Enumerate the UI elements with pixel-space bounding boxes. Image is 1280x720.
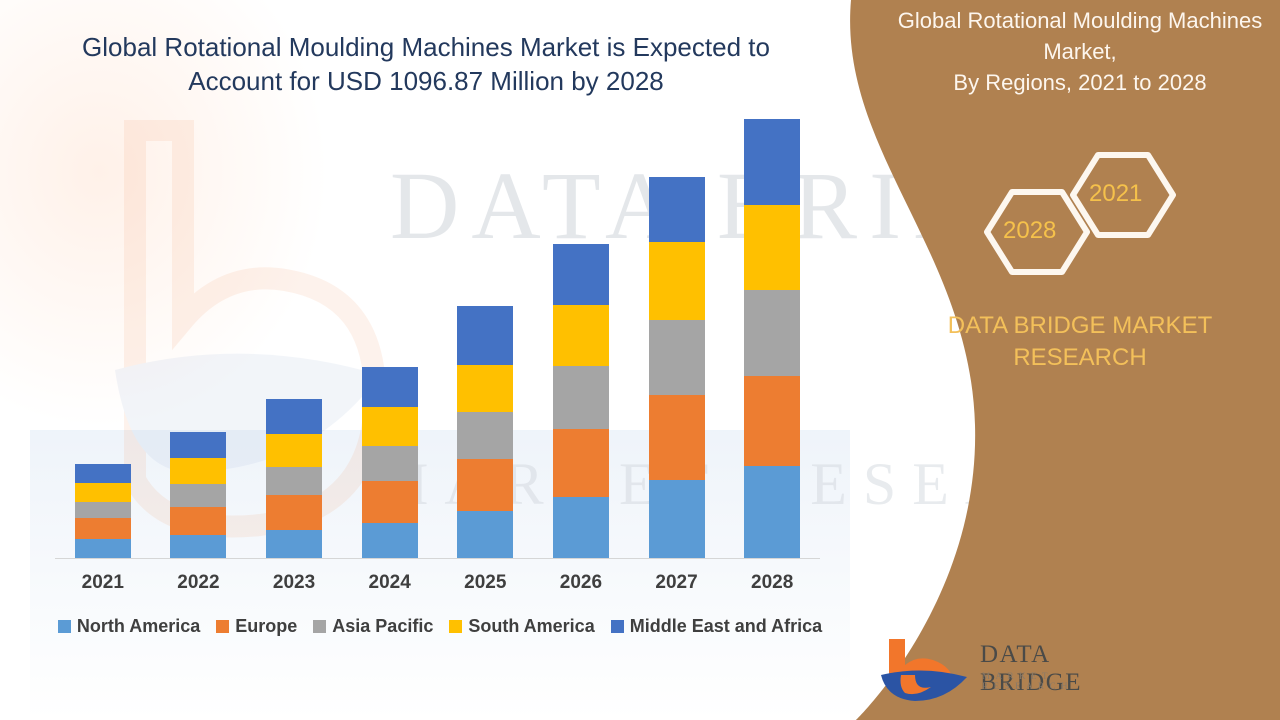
hexagon-pair-icon bbox=[970, 150, 1190, 280]
bar-segment bbox=[744, 466, 800, 558]
infographic-slide: DATA BRIDGE MARKET RESEARCH Global Rotat… bbox=[0, 0, 1280, 720]
bridge-logo-icon bbox=[875, 635, 975, 705]
x-axis-label: 2025 bbox=[440, 572, 530, 594]
x-axis-label: 2023 bbox=[249, 572, 339, 594]
bar-segment bbox=[649, 320, 705, 395]
legend-item[interactable]: Middle East and Africa bbox=[611, 616, 822, 637]
x-axis-label: 2022 bbox=[153, 572, 243, 594]
brand-panel-title: Global Rotational Moulding Machines Mark… bbox=[870, 5, 1280, 99]
bar-segment bbox=[362, 407, 418, 446]
bar-segment bbox=[553, 244, 609, 305]
bar-segment bbox=[75, 483, 131, 502]
bar-segment bbox=[649, 395, 705, 480]
legend-swatch-icon bbox=[216, 620, 229, 633]
bar-segment bbox=[170, 432, 226, 458]
logo-tagline: MARKET RESEARCH bbox=[982, 671, 1135, 691]
bar-segment bbox=[362, 481, 418, 523]
bar-2026 bbox=[553, 244, 609, 558]
bar-2023 bbox=[266, 399, 322, 558]
x-axis-line bbox=[55, 558, 820, 559]
bar-segment bbox=[75, 464, 131, 483]
legend-item[interactable]: Asia Pacific bbox=[313, 616, 433, 637]
bar-2025 bbox=[457, 306, 513, 558]
bar-segment bbox=[553, 305, 609, 366]
bar-segment bbox=[553, 429, 609, 497]
bar-segment bbox=[744, 376, 800, 466]
company-name: DATA BRIDGE MARKET RESEARCH bbox=[880, 310, 1280, 374]
x-axis-label: 2028 bbox=[727, 572, 817, 594]
legend-label: South America bbox=[468, 616, 594, 637]
bar-segment bbox=[362, 523, 418, 558]
bar-segment bbox=[170, 535, 226, 558]
bar-segment bbox=[744, 119, 800, 205]
legend-item[interactable]: South America bbox=[449, 616, 594, 637]
legend-swatch-icon bbox=[611, 620, 624, 633]
bar-segment bbox=[457, 365, 513, 412]
bar-2024 bbox=[362, 367, 418, 558]
legend-label: Asia Pacific bbox=[332, 616, 433, 637]
legend-item[interactable]: North America bbox=[58, 616, 200, 637]
bar-segment bbox=[170, 458, 226, 484]
bar-segment bbox=[553, 366, 609, 429]
page-title: Global Rotational Moulding Machines Mark… bbox=[62, 30, 790, 99]
x-axis-label: 2021 bbox=[58, 572, 148, 594]
bar-segment bbox=[266, 495, 322, 530]
hex-label-end: 2028 bbox=[1003, 217, 1056, 245]
chart-panel: DATA BRIDGE MARKET RESEARCH Global Rotat… bbox=[0, 0, 900, 720]
bar-segment bbox=[266, 467, 322, 495]
brand-panel: Global Rotational Moulding Machines Mark… bbox=[900, 0, 1280, 720]
bar-segment bbox=[362, 446, 418, 481]
x-axis-label: 2026 bbox=[536, 572, 626, 594]
bar-segment bbox=[457, 459, 513, 511]
bar-segment bbox=[457, 306, 513, 365]
bar-segment bbox=[649, 242, 705, 320]
bar-segment bbox=[457, 412, 513, 459]
legend-label: North America bbox=[77, 616, 200, 637]
bar-segment bbox=[649, 480, 705, 558]
bar-segment bbox=[266, 434, 322, 467]
bar-2021 bbox=[75, 464, 131, 558]
legend-label: Europe bbox=[235, 616, 297, 637]
legend-swatch-icon bbox=[449, 620, 462, 633]
legend-label: Middle East and Africa bbox=[630, 616, 822, 637]
bar-segment bbox=[75, 502, 131, 518]
legend-swatch-icon bbox=[58, 620, 71, 633]
bar-segment bbox=[553, 497, 609, 558]
bar-chart-plot bbox=[55, 118, 820, 558]
bar-2027 bbox=[649, 177, 705, 558]
bar-segment bbox=[744, 290, 800, 376]
chart-legend: North AmericaEuropeAsia PacificSouth Ame… bbox=[55, 616, 825, 637]
bar-segment bbox=[649, 177, 705, 242]
hex-label-start: 2021 bbox=[1089, 180, 1142, 208]
bar-2022 bbox=[170, 432, 226, 558]
x-axis-label: 2024 bbox=[345, 572, 435, 594]
bar-segment bbox=[457, 511, 513, 558]
company-logo: DATA BRIDGE MARKET RESEARCH bbox=[875, 635, 1135, 707]
bar-segment bbox=[170, 484, 226, 507]
legend-swatch-icon bbox=[313, 620, 326, 633]
bar-2028 bbox=[744, 119, 800, 558]
bar-segment bbox=[75, 518, 131, 539]
bar-segment bbox=[362, 367, 418, 407]
legend-item[interactable]: Europe bbox=[216, 616, 297, 637]
bar-segment bbox=[266, 530, 322, 558]
x-axis-label: 2027 bbox=[632, 572, 722, 594]
bar-segment bbox=[744, 205, 800, 290]
bar-segment bbox=[266, 399, 322, 434]
year-hexagons: 2021 2028 bbox=[970, 150, 1190, 280]
bar-segment bbox=[75, 539, 131, 558]
bar-segment bbox=[170, 507, 226, 535]
